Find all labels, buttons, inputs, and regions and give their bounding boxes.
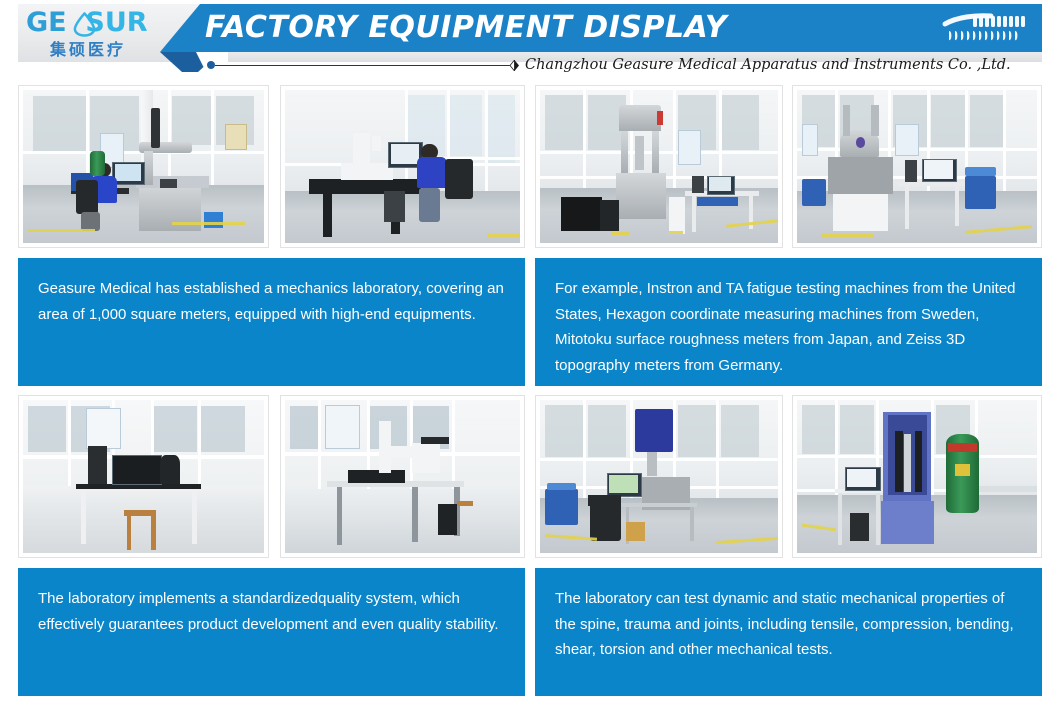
photo-fatigue-test-system[interactable]	[792, 85, 1042, 248]
caption-quality-system-text: The laboratory implements a standardized…	[38, 586, 505, 637]
photo-universal-testing-machine[interactable]	[792, 395, 1042, 558]
photo-cmm-operator[interactable]	[18, 85, 269, 248]
subtitle-dot-icon	[207, 61, 215, 69]
caption-row-2: The laboratory implements a standardized…	[0, 568, 1060, 696]
logo-text-part1: GE	[26, 7, 67, 38]
logo-chinese-name: 集硕医疗	[50, 39, 126, 61]
photo-instron-dynamic-tester[interactable]	[535, 395, 783, 558]
company-subtitle: Changzhou Geasure Medical Apparatus and …	[525, 56, 1011, 74]
page-title: FACTORY EQUIPMENT DISPLAY	[205, 9, 727, 47]
caption-quality-system: The laboratory implements a standardized…	[18, 568, 525, 696]
photo-row-2	[0, 395, 1060, 558]
spine-graphic-icon	[931, 5, 1041, 52]
caption-test-capabilities-text: The laboratory can test dynamic and stat…	[555, 586, 1022, 663]
company-logo[interactable]: GE SUR 集硕医疗	[26, 9, 158, 61]
logo-wordmark: GE SUR	[26, 9, 158, 39]
caption-lab-overview-text: Geasure Medical has established a mechan…	[38, 276, 505, 327]
subtitle-row: Changzhou Geasure Medical Apparatus and …	[205, 54, 1005, 76]
photo-roughness-meter[interactable]	[280, 395, 525, 558]
caption-test-capabilities: The laboratory can test dynamic and stat…	[535, 568, 1042, 696]
photo-row-1	[0, 85, 1060, 248]
page-header: GE SUR 集硕医疗 FACTORY EQUIPMENT DISPLAY Ch…	[0, 0, 1060, 78]
caption-equipment-brands: For example, Instron and TA fatigue test…	[535, 258, 1042, 386]
diamond-bullet-icon	[510, 60, 519, 71]
subtitle-rule	[215, 65, 510, 66]
caption-row-1: Geasure Medical has established a mechan…	[0, 258, 1060, 386]
factory-equipment-display-page: GE SUR 集硕医疗 FACTORY EQUIPMENT DISPLAY Ch…	[0, 0, 1060, 712]
droplet-icon	[72, 11, 97, 37]
caption-equipment-brands-text: For example, Instron and TA fatigue test…	[555, 276, 1022, 378]
photo-servo-hydraulic-tester[interactable]	[535, 85, 783, 248]
photo-vision-measuring[interactable]	[280, 85, 525, 248]
photo-microscope-station[interactable]	[18, 395, 269, 558]
caption-lab-overview: Geasure Medical has established a mechan…	[18, 258, 525, 386]
